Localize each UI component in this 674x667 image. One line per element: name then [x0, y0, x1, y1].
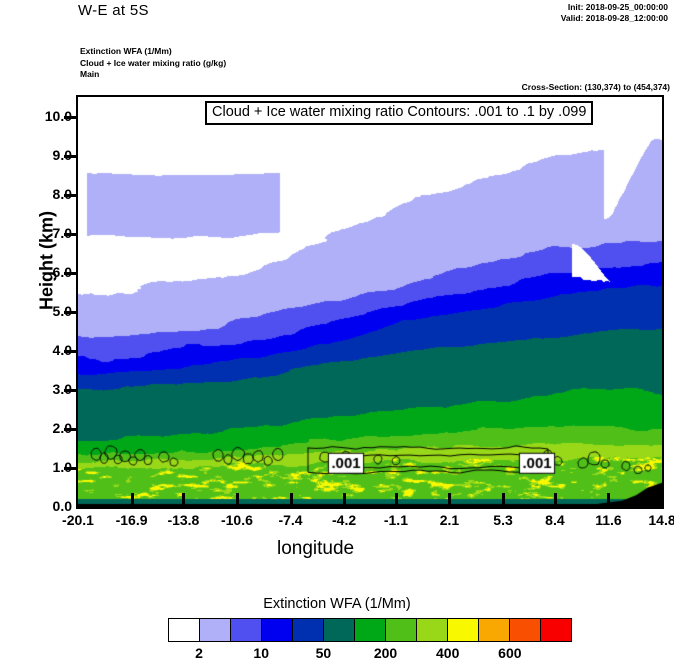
x-tick-mark	[343, 493, 346, 507]
colorbar-swatch	[293, 619, 324, 641]
valid-time: Valid: 2018-09-28_12:00:00	[561, 13, 668, 24]
x-tick-label: 14.8	[632, 512, 674, 528]
colorbar-swatch	[324, 619, 355, 641]
x-tick-label: -7.4	[261, 512, 321, 528]
x-tick-mark	[290, 493, 293, 507]
x-tick-mark	[182, 493, 185, 507]
x-tick-label: 8.4	[525, 512, 585, 528]
y-tick-mark	[64, 311, 76, 314]
cross-section-plot	[76, 95, 664, 509]
y-tick-mark	[64, 467, 76, 470]
colorbar-tick-labels: 21050200400600	[168, 645, 572, 665]
x-axis-title: longitude	[277, 538, 354, 560]
colorbar-swatch	[386, 619, 417, 641]
contour-title-box: Cloud + Ice water mixing ratio Contours:…	[205, 101, 593, 125]
colorbar-swatch	[479, 619, 510, 641]
page-title: W-E at 5S	[78, 2, 149, 19]
contour-canvas	[78, 97, 662, 507]
colorbar-swatch	[510, 619, 541, 641]
x-tick-mark	[607, 493, 610, 507]
y-tick-mark	[64, 428, 76, 431]
x-tick-label: 2.1	[419, 512, 479, 528]
colorbar-tick-label: 600	[483, 645, 537, 661]
y-tick-mark	[64, 194, 76, 197]
colorbar-tick-label: 50	[296, 645, 350, 661]
colorbar-swatch	[231, 619, 262, 641]
x-tick-mark	[448, 493, 451, 507]
colorbar-swatch	[355, 619, 386, 641]
y-tick-mark	[64, 272, 76, 275]
y-tick-mark	[64, 116, 76, 119]
colorbar-tick-label: 2	[172, 645, 226, 661]
x-tick-label: -1.1	[366, 512, 426, 528]
colorbar-swatch	[541, 619, 571, 641]
init-time: Init: 2018-09-25_00:00:00	[561, 2, 668, 13]
x-tick-mark	[131, 493, 134, 507]
field-description-block: Extinction WFA (1/Mm) Cloud + Ice water …	[80, 46, 226, 81]
x-tick-mark	[236, 493, 239, 507]
colorbar	[168, 618, 572, 642]
colorbar-swatch	[200, 619, 231, 641]
x-tick-label: -13.8	[153, 512, 213, 528]
colorbar-swatch	[169, 619, 200, 641]
colorbar-tick-label: 400	[421, 645, 475, 661]
x-tick-label: -10.6	[207, 512, 267, 528]
run-time-block: Init: 2018-09-25_00:00:00 Valid: 2018-09…	[561, 2, 668, 24]
y-tick-mark	[64, 350, 76, 353]
field-line-extinction: Extinction WFA (1/Mm)	[80, 46, 226, 58]
colorbar-swatch	[262, 619, 293, 641]
colorbar-swatch	[448, 619, 479, 641]
colorbar-swatch	[417, 619, 448, 641]
y-tick-mark	[64, 233, 76, 236]
colorbar-tick-label: 10	[234, 645, 288, 661]
x-tick-mark	[395, 493, 398, 507]
x-tick-mark	[502, 493, 505, 507]
x-tick-label: 11.6	[578, 512, 638, 528]
colorbar-tick-label: 200	[359, 645, 413, 661]
field-line-mixing-ratio: Cloud + Ice water mixing ratio (g/kg)	[80, 58, 226, 70]
x-tick-mark	[554, 493, 557, 507]
field-line-domain: Main	[80, 69, 226, 81]
x-axis-ticks: -20.1-16.9-13.8-10.6-7.4-4.2-1.12.15.38.…	[0, 512, 674, 534]
colorbar-title: Extinction WFA (1/Mm)	[0, 596, 674, 612]
cross-section-endpoints: Cross-Section: (130,374) to (454,374)	[522, 82, 670, 92]
y-tick-mark	[64, 389, 76, 392]
y-tick-mark	[64, 155, 76, 158]
x-tick-label: -20.1	[48, 512, 108, 528]
